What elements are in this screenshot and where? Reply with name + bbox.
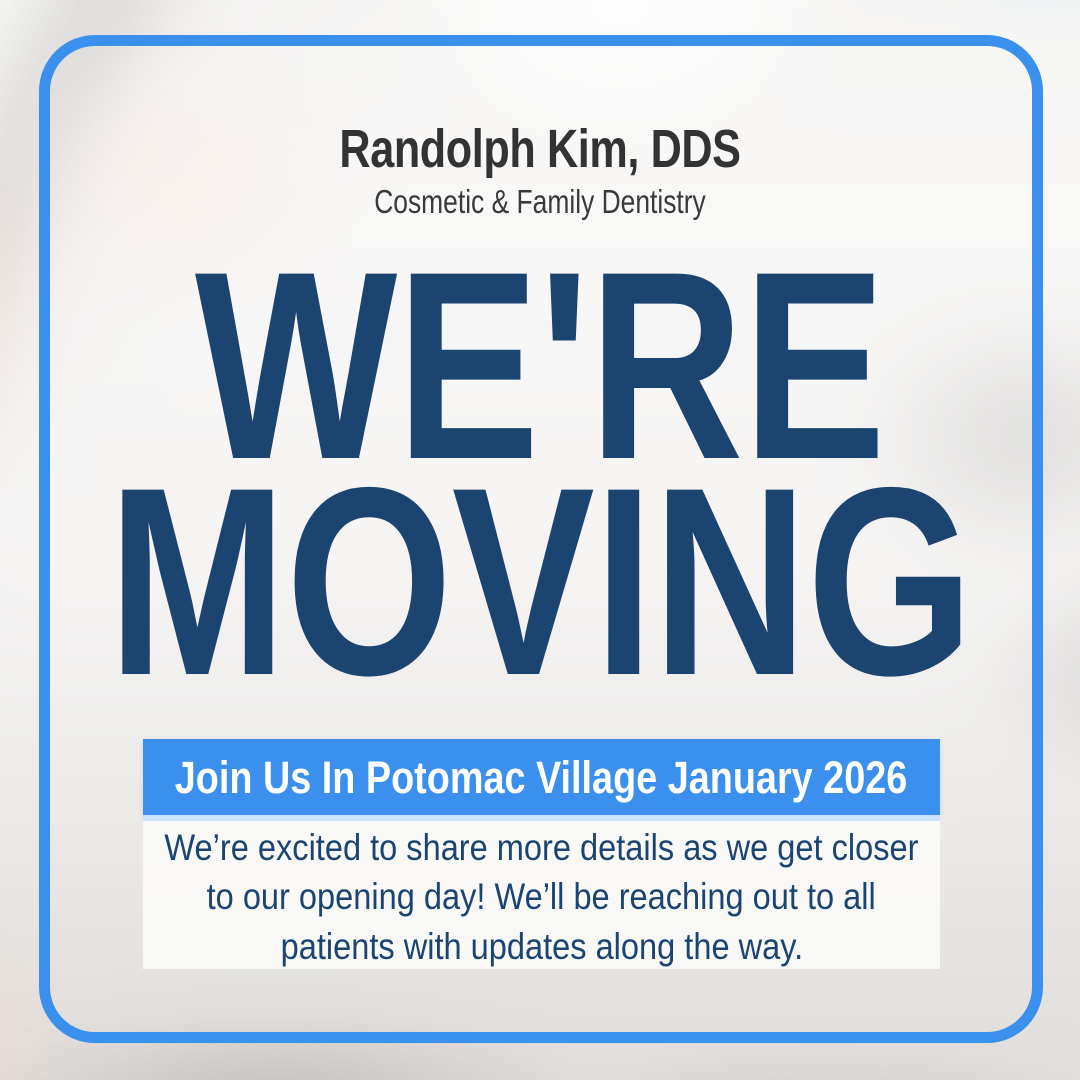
practice-logo: Randolph Kim, DDS Cosmetic & Family Dent… <box>0 122 1080 218</box>
body-text-panel: We’re excited to share more details as w… <box>143 821 940 969</box>
headline: WE'RE MOVING <box>0 252 1080 695</box>
practice-name: Randolph Kim, DDS <box>108 122 972 176</box>
body-line: We’re excited to share more details as w… <box>164 823 918 872</box>
practice-tagline: Cosmetic & Family Dentistry <box>108 185 972 218</box>
announcement-banner: Join Us In Potomac Village January 2026 <box>143 739 940 815</box>
announcement-banner-text: Join Us In Potomac Village January 2026 <box>175 755 908 800</box>
headline-line-2: MOVING <box>108 468 972 694</box>
body-line: to our opening day! We’ll be reaching ou… <box>207 872 876 921</box>
poster-content: Randolph Kim, DDS Cosmetic & Family Dent… <box>0 0 1080 1080</box>
body-line: patients with updates along the way. <box>280 922 803 971</box>
announcement-poster: Randolph Kim, DDS Cosmetic & Family Dent… <box>0 0 1080 1080</box>
